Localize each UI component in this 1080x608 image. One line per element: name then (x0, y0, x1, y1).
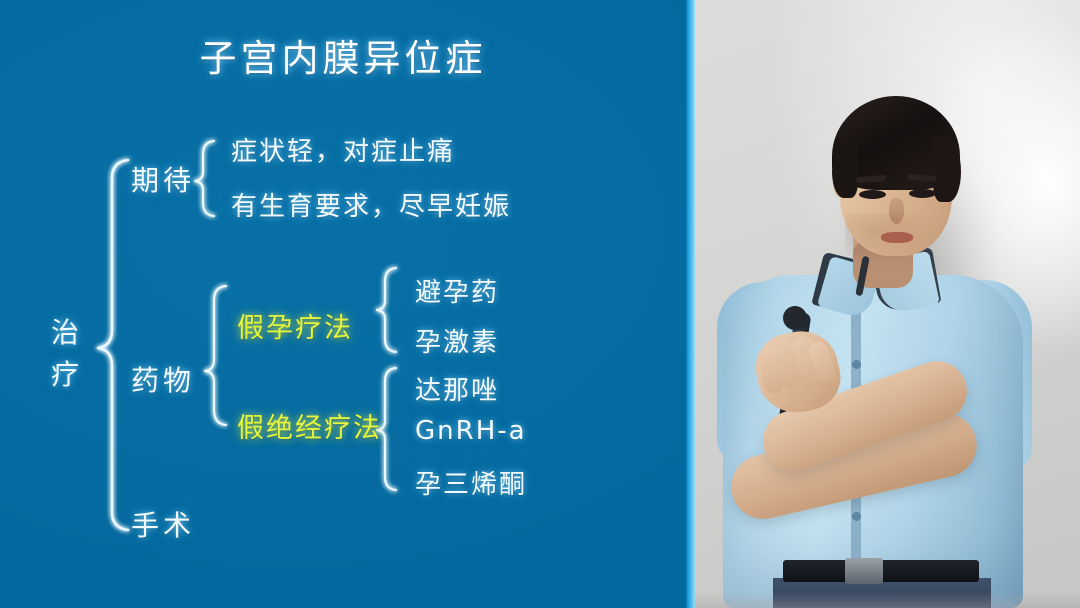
node-pseudo-pregnancy: 假孕疗法 (237, 306, 353, 345)
node-root-char-1: 治 (38, 312, 94, 354)
mouth (881, 232, 913, 243)
eye-left (859, 190, 886, 199)
brace-lines (0, 0, 686, 608)
page-title: 子宫内膜异位症 (0, 28, 686, 82)
video-panel (695, 0, 1080, 608)
node-pseudo-menopause: 假绝经疗法 (237, 406, 382, 445)
brace-pseudo-pregnancy (377, 268, 396, 352)
eye-right (909, 189, 936, 198)
node-gestrinone: 孕三烯酮 (415, 464, 527, 501)
node-surgery: 手术 (131, 504, 195, 544)
screenshot-root: 子宫内膜异位症 (0, 0, 1080, 608)
slide-panel: 子宫内膜异位症 (0, 0, 686, 608)
shirt-button-1 (852, 360, 861, 369)
brace-medication (205, 286, 226, 425)
node-gnrh-a: GnRH-a (415, 416, 527, 446)
belt-buckle (845, 558, 883, 584)
node-medication: 药物 (131, 359, 195, 399)
hair-side-left (832, 140, 858, 198)
node-contraceptive: 避孕药 (415, 272, 499, 309)
node-root-char-2: 疗 (38, 354, 94, 396)
panel-divider (686, 0, 695, 608)
brace-root (98, 160, 128, 530)
floor-line (695, 592, 1080, 608)
presenter-figure (695, 0, 1080, 608)
nose (889, 198, 904, 224)
node-danazol: 达那唑 (415, 370, 499, 407)
shirt-button-3 (852, 512, 861, 521)
node-root-treatment: 治 疗 (38, 312, 94, 396)
node-expectant-item-1: 症状轻，对症止痛 (231, 131, 455, 168)
node-progestin: 孕激素 (415, 322, 499, 359)
slide-vignette (0, 0, 686, 608)
brace-expectant (195, 141, 214, 216)
node-expectant: 期待 (131, 159, 195, 199)
node-expectant-item-2: 有生育要求，尽早妊娠 (231, 186, 511, 223)
